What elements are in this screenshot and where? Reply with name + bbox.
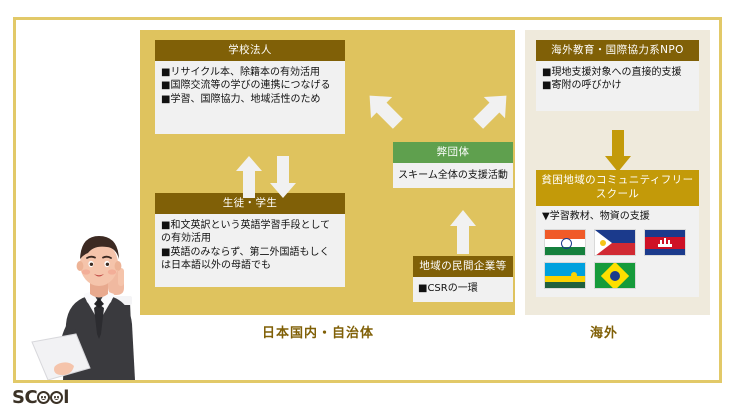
philippines-flag [594, 229, 636, 256]
arrow-upright-to-npo [470, 88, 516, 130]
logo-text-right: l [63, 387, 69, 408]
card-local-business-title: 地域の民間企業等 [413, 256, 513, 277]
card-local-business-body: ■CSRの一環 [413, 277, 513, 302]
card-school-corporation: 学校法人 ■リサイクル本、除籍本の有効活用 ■国際交流等の学びの連携につなげる … [155, 40, 345, 134]
card-community-free-school: 貧困地域のコミュニティフリースクール ▼学習教材、物資の支援 [536, 170, 699, 297]
arrow-upleft-to-school [360, 88, 406, 130]
bullet: ■リサイクル本、除籍本の有効活用 [161, 66, 339, 79]
card-our-organization-title: 弊団体 [393, 142, 513, 163]
businessman-pointing-up-illustration [18, 228, 140, 380]
region-label-domestic: 日本国内・自治体 [262, 322, 374, 341]
card-local-business: 地域の民間企業等 ■CSRの一環 [413, 256, 513, 302]
bullet: ▼学習教材、物資の支援 [542, 210, 693, 223]
logo-text-left: SC [12, 387, 37, 408]
card-our-organization: 弊団体 スキーム全体の支援活動 [393, 142, 513, 188]
card-community-free-school-body: ▼学習教材、物資の支援 [536, 206, 699, 297]
card-overseas-npo-body: ■現地支援対象への直接的支援 ■寄附の呼びかけ [536, 61, 699, 111]
india-flag [544, 229, 586, 256]
card-students: 生徒・学生 ■和文英訳という英語学習手段としての有効活用 ■英語のみならず、第二… [155, 193, 345, 287]
card-school-corporation-body: ■リサイクル本、除籍本の有効活用 ■国際交流等の学びの連携につなげる ■学習、国… [155, 61, 345, 134]
arrow-up-from-business [450, 210, 476, 254]
arrow-up-to-school [236, 156, 262, 198]
bullet: ■学習、国際協力、地域活性のため [161, 93, 339, 106]
cambodia-flag [644, 229, 686, 256]
supported-country-flags [542, 229, 693, 289]
card-overseas-npo: 海外教育・国際協力系NPO ■現地支援対象への直接的支援 ■寄附の呼びかけ [536, 40, 699, 111]
card-our-organization-body: スキーム全体の支援活動 [393, 163, 513, 188]
card-overseas-npo-title: 海外教育・国際協力系NPO [536, 40, 699, 61]
logo-smiley-faces-icon [37, 391, 63, 404]
card-school-corporation-title: 学校法人 [155, 40, 345, 61]
arrow-down-to-students [270, 156, 296, 198]
scool-logo: SC l [12, 387, 69, 408]
card-students-body: ■和文英訳という英語学習手段としての有効活用 ■英語のみならず、第二外国語もしく… [155, 214, 345, 287]
bullet: ■CSRの一環 [418, 282, 508, 295]
region-label-overseas: 海外 [590, 322, 618, 341]
bullet: ■英語のみならず、第二外国語もしくは日本語以外の母語でも [161, 246, 339, 272]
bullet: ■国際交流等の学びの連携につなげる [161, 79, 339, 92]
bullet: ■和文英訳という英語学習手段としての有効活用 [161, 219, 339, 245]
bullet: ■現地支援対象への直接的支援 [542, 66, 693, 79]
rwanda-flag [544, 262, 586, 289]
card-community-free-school-title: 貧困地域のコミュニティフリースクール [536, 170, 699, 206]
bullet: スキーム全体の支援活動 [397, 169, 509, 182]
bullet: ■寄附の呼びかけ [542, 79, 693, 92]
brazil-flag [594, 262, 636, 289]
arrow-down-to-free-school [605, 130, 631, 172]
